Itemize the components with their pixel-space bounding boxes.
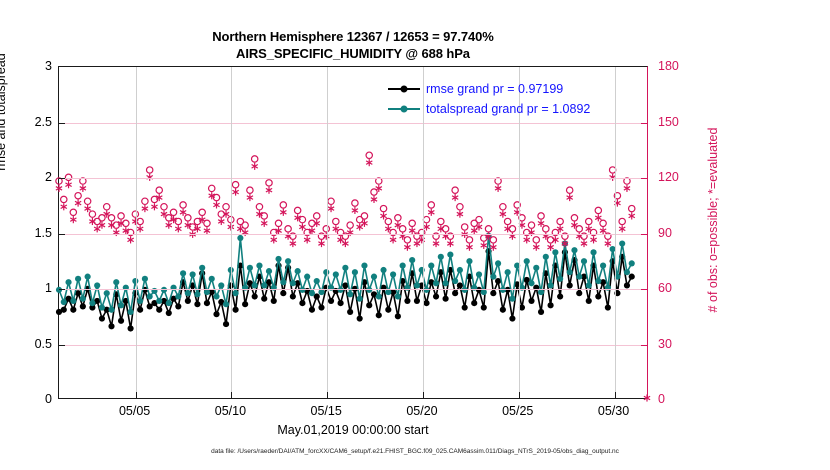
series-marker — [204, 300, 210, 306]
obs-possible-marker — [84, 198, 90, 204]
obs-possible-marker — [495, 178, 501, 184]
series-marker — [505, 269, 511, 275]
obs-evaluated-marker — [318, 240, 324, 247]
obs-possible-marker — [528, 222, 534, 228]
series-marker — [65, 279, 71, 285]
obs-evaluated-marker — [600, 227, 606, 234]
legend-label-totalspread: totalspread grand pr = 1.0892 — [426, 99, 590, 119]
legend-label-rmse: rmse grand pr = 0.97199 — [426, 79, 563, 99]
series-marker — [423, 300, 429, 306]
obs-possible-marker — [209, 185, 215, 191]
y-axis-left-ticks: 00.511.522.53 — [0, 66, 52, 399]
obs-evaluated-marker — [113, 229, 119, 236]
obs-evaluated-marker — [70, 216, 76, 223]
series-marker — [166, 310, 172, 316]
series-marker — [586, 282, 592, 288]
series-marker — [166, 300, 172, 306]
series-marker — [538, 309, 544, 315]
series-marker — [328, 285, 334, 291]
x-axis-tickmark — [615, 392, 616, 398]
series-marker — [185, 290, 191, 296]
obs-evaluated-marker — [366, 159, 372, 166]
series-marker — [605, 304, 611, 310]
series-marker — [194, 301, 200, 307]
series-marker — [471, 300, 477, 306]
series-marker — [395, 293, 401, 299]
obs-evaluated-marker — [304, 236, 310, 243]
obs-possible-marker — [256, 204, 262, 210]
obs-possible-marker — [380, 205, 386, 211]
series-marker — [352, 269, 358, 275]
obs-evaluated-marker — [509, 233, 515, 240]
series-marker — [213, 293, 219, 299]
series-marker — [118, 302, 124, 308]
obs-possible-marker — [266, 180, 272, 186]
x-axis-tickmark — [423, 392, 424, 398]
obs-possible-marker — [180, 202, 186, 208]
obs-evaluated-marker — [457, 211, 463, 218]
obs-evaluated-marker — [495, 185, 501, 192]
series-marker — [619, 240, 625, 246]
series-marker — [571, 247, 577, 253]
series-marker — [428, 263, 434, 269]
obs-evaluated-marker — [595, 214, 601, 221]
y-axis-left-tick-label: 1 — [4, 281, 52, 295]
series-marker — [175, 293, 181, 299]
series-marker — [309, 307, 315, 313]
series-marker — [209, 276, 215, 282]
series-marker — [419, 267, 425, 273]
obs-possible-marker — [447, 233, 453, 239]
obs-evaluated-marker — [590, 236, 596, 243]
series-marker — [61, 299, 67, 305]
y-axis-left-tick-label: 0.5 — [4, 337, 52, 351]
obs-possible-marker — [619, 218, 625, 224]
obs-possible-marker — [538, 213, 544, 219]
legend-swatch-totalspread — [388, 103, 420, 115]
series-marker — [266, 268, 272, 274]
series-marker — [242, 301, 248, 307]
series-marker — [142, 276, 148, 282]
x-axis-tick-label: 05/05 — [119, 404, 150, 418]
series-marker — [261, 296, 267, 302]
series-marker — [99, 315, 105, 321]
obs-evaluated-marker — [271, 236, 277, 243]
series-marker — [318, 289, 324, 295]
series-marker — [295, 268, 301, 274]
y-axis-right-tick-label: 150 — [658, 115, 679, 129]
y-axis-left-tickmark — [59, 123, 65, 124]
obs-evaluated-marker — [624, 185, 630, 192]
series-marker — [605, 285, 611, 291]
series-marker — [80, 296, 86, 302]
y-axis-right-tickmark — [641, 345, 647, 346]
y-axis-left-tickmark — [59, 289, 65, 290]
obs-evaluated-marker — [151, 203, 157, 210]
obs-possible-marker — [323, 226, 329, 232]
x-axis-label: May.01,2019 00:00:00 start — [58, 423, 648, 437]
series-marker — [366, 287, 372, 293]
series-marker — [232, 290, 238, 296]
series-marker — [99, 304, 105, 310]
series-marker — [452, 290, 458, 296]
y-axis-right-tick-label: 30 — [658, 337, 672, 351]
series-marker — [70, 298, 76, 304]
series-marker — [547, 282, 553, 288]
series-marker — [500, 307, 506, 313]
series-marker — [252, 293, 258, 299]
obs-possible-marker — [366, 152, 372, 158]
obs-evaluated-marker — [166, 222, 172, 229]
obs-possible-marker — [146, 167, 152, 173]
obs-possible-marker — [586, 218, 592, 224]
obs-evaluated-marker — [280, 209, 286, 216]
obs-evaluated-marker — [299, 223, 305, 230]
obs-possible-marker — [314, 213, 320, 219]
obs-possible-marker — [137, 218, 143, 224]
obs-possible-marker — [442, 226, 448, 232]
series-marker — [476, 271, 482, 277]
obs-evaluated-marker — [204, 227, 210, 234]
series-marker — [223, 301, 229, 307]
series-marker — [610, 246, 616, 252]
obs-evaluated-marker — [423, 223, 429, 230]
series-marker — [280, 290, 286, 296]
obs-possible-marker — [581, 233, 587, 239]
series-marker — [357, 296, 363, 302]
series-marker — [490, 274, 496, 280]
series-marker — [400, 263, 406, 269]
obs-evaluated-marker — [524, 236, 530, 243]
obs-evaluated-marker — [290, 240, 296, 247]
obs-possible-marker — [419, 229, 425, 235]
obs-possible-marker — [461, 224, 467, 230]
obs-evaluated-marker — [80, 185, 86, 192]
obs-possible-marker — [318, 233, 324, 239]
series-marker — [404, 298, 410, 304]
series-marker — [567, 269, 573, 275]
series-marker — [590, 249, 596, 255]
series-marker — [538, 289, 544, 295]
series-marker — [414, 282, 420, 288]
obs-evaluated-marker — [519, 222, 525, 229]
series-marker — [447, 251, 453, 257]
series-marker — [290, 280, 296, 286]
obs-evaluated-marker — [380, 212, 386, 219]
obs-evaluated-marker — [547, 244, 553, 251]
obs-possible-marker — [347, 222, 353, 228]
obs-evaluated-marker — [500, 211, 506, 218]
series-marker — [357, 315, 363, 321]
x-axis-tick-label: 05/10 — [215, 404, 246, 418]
series-marker — [519, 285, 525, 291]
series-marker — [404, 285, 410, 291]
series-marker — [314, 278, 320, 284]
y-axis-right-tickmark — [641, 123, 647, 124]
series-marker — [557, 293, 563, 299]
obs-possible-marker — [232, 182, 238, 188]
obs-possible-marker — [361, 213, 367, 219]
chart-title-line-1: Northern Hemisphere 12367 / 12653 = 97.7… — [58, 28, 648, 45]
obs-possible-marker — [199, 209, 205, 215]
series-marker — [533, 285, 539, 291]
series-marker — [547, 302, 553, 308]
obs-possible-marker — [132, 211, 138, 217]
series-marker — [175, 303, 181, 309]
legend-item-totalspread[interactable]: totalspread grand pr = 1.0892 — [388, 99, 590, 119]
series-marker — [567, 282, 573, 288]
y-axis-left-tick-label: 3 — [4, 59, 52, 73]
obs-evaluated-marker — [404, 244, 410, 251]
series-marker — [629, 260, 635, 266]
series-marker — [108, 323, 114, 329]
series-marker — [495, 260, 501, 266]
obs-evaluated-marker — [180, 209, 186, 216]
series-marker — [118, 318, 124, 324]
series-group — [56, 152, 635, 243]
series-marker — [156, 307, 162, 313]
series-marker — [614, 290, 620, 296]
obs-possible-marker — [433, 233, 439, 239]
series-marker — [533, 265, 539, 271]
series-marker — [595, 293, 601, 299]
series-marker — [309, 290, 315, 296]
series-marker — [543, 254, 549, 260]
legend-item-rmse[interactable]: rmse grand pr = 0.97199 — [388, 79, 590, 99]
obs-possible-marker — [251, 156, 257, 162]
obs-possible-marker — [80, 178, 86, 184]
series-marker — [366, 302, 372, 308]
series-marker — [395, 313, 401, 319]
obs-evaluated-marker — [514, 209, 520, 216]
series-marker — [137, 298, 143, 304]
series-marker — [462, 287, 468, 293]
x-axis-tick-label: 05/25 — [502, 404, 533, 418]
series-marker — [94, 282, 100, 288]
series-marker — [190, 271, 196, 277]
y-axis-right-tickmark — [641, 178, 647, 179]
obs-evaluated-marker — [567, 194, 573, 201]
series-marker — [213, 311, 219, 317]
y-axis-left-tick-label: 0 — [4, 392, 52, 406]
series-marker — [614, 274, 620, 280]
obs-evaluated-marker — [247, 194, 253, 201]
series-marker — [481, 289, 487, 295]
series-marker — [113, 279, 119, 285]
series-marker — [443, 280, 449, 286]
obs-evaluated-marker — [137, 225, 143, 232]
series-marker — [347, 291, 353, 297]
series-marker — [624, 269, 630, 275]
series-marker — [247, 265, 253, 271]
obs-possible-marker — [285, 226, 291, 232]
obs-possible-marker — [123, 220, 129, 226]
series-marker — [342, 265, 348, 271]
y-axis-left-tickmark — [59, 178, 65, 179]
obs-evaluated-marker — [328, 205, 334, 212]
x-axis-tick-label: 05/30 — [598, 404, 629, 418]
obs-possible-marker — [514, 202, 520, 208]
series-marker — [433, 293, 439, 299]
series-marker — [299, 287, 305, 293]
series-marker — [528, 280, 534, 286]
series-marker — [161, 287, 167, 293]
series-marker — [452, 278, 458, 284]
obs-possible-marker — [409, 220, 415, 226]
series-marker — [557, 276, 563, 282]
series-marker — [80, 303, 86, 309]
series-marker — [170, 285, 176, 291]
obs-possible-marker — [566, 187, 572, 193]
obs-evaluated-marker — [190, 231, 196, 238]
series-marker — [127, 325, 133, 331]
legend: rmse grand pr = 0.97199 totalspread gran… — [388, 79, 590, 119]
obs-possible-marker — [614, 193, 620, 199]
series-marker — [85, 274, 91, 280]
y-axis-left-tickmark — [59, 234, 65, 235]
obs-possible-marker — [428, 202, 434, 208]
obs-possible-marker — [218, 211, 224, 217]
x-axis-tick-label: 05/20 — [406, 404, 437, 418]
obs-possible-marker — [524, 229, 530, 235]
series-marker — [361, 263, 367, 269]
obs-possible-marker — [629, 205, 635, 211]
obs-evaluated-marker — [614, 199, 620, 206]
obs-evaluated-marker — [481, 242, 487, 249]
obs-evaluated-marker — [56, 185, 62, 192]
obs-possible-marker — [118, 213, 124, 219]
obs-evaluated-marker — [252, 163, 258, 170]
obs-possible-marker — [595, 207, 601, 213]
series-marker — [338, 287, 344, 293]
obs-possible-marker — [504, 218, 510, 224]
obs-possible-marker — [571, 215, 577, 221]
series-marker — [156, 298, 162, 304]
obs-possible-marker — [161, 204, 167, 210]
obs-evaluated-marker — [533, 244, 539, 251]
obs-possible-marker — [438, 218, 444, 224]
series-marker — [271, 285, 277, 291]
obs-possible-marker — [557, 218, 563, 224]
obs-possible-marker — [228, 216, 234, 222]
series-marker — [371, 274, 377, 280]
y-axis-right-ticks: 0306090120150180 — [648, 66, 708, 399]
series-marker — [390, 271, 396, 277]
obs-possible-marker — [452, 187, 458, 193]
obs-possible-marker — [562, 233, 568, 239]
series-marker — [462, 304, 468, 310]
series-marker — [338, 300, 344, 306]
series-marker — [481, 304, 487, 310]
y-axis-right-tick-label: 90 — [658, 226, 672, 240]
obs-evaluated-marker — [65, 181, 71, 188]
series-marker — [70, 307, 76, 313]
series-marker — [457, 282, 463, 288]
x-axis-tickmark — [136, 392, 137, 398]
series-marker — [256, 263, 262, 269]
series-marker — [132, 278, 138, 284]
series-marker — [500, 287, 506, 293]
obs-possible-marker — [247, 187, 253, 193]
series-marker — [624, 282, 630, 288]
obs-evaluated-marker — [142, 205, 148, 212]
series-marker — [466, 258, 472, 264]
series-group — [56, 159, 635, 251]
y-axis-left-tick-label: 2 — [4, 170, 52, 184]
series-marker — [409, 257, 415, 263]
series-marker — [385, 307, 391, 313]
series-marker — [180, 270, 186, 276]
series-marker — [581, 258, 587, 264]
series-marker — [457, 267, 463, 273]
series-marker — [509, 315, 515, 321]
obs-possible-marker — [395, 215, 401, 221]
series-marker — [204, 289, 210, 295]
obs-evaluated-marker — [433, 240, 439, 247]
series-marker — [275, 256, 281, 262]
obs-evaluated-marker — [409, 227, 415, 234]
series-marker — [333, 271, 339, 277]
series-marker — [414, 298, 420, 304]
series-marker — [514, 263, 520, 269]
chart-title-line-2: AIRS_SPECIFIC_HUMIDITY @ 688 hPa — [58, 45, 648, 62]
obs-possible-marker — [509, 226, 515, 232]
obs-possible-marker — [156, 187, 162, 193]
series-marker — [524, 258, 530, 264]
series-marker — [280, 279, 286, 285]
obs-evaluated-marker — [61, 203, 67, 210]
series-marker — [285, 258, 291, 264]
obs-evaluated-marker — [462, 231, 468, 238]
y-axis-right-tick-label: 120 — [658, 170, 679, 184]
obs-evaluated-marker — [75, 199, 81, 206]
series-marker — [242, 285, 248, 291]
series-marker — [376, 293, 382, 299]
series-marker — [490, 290, 496, 296]
series-marker — [290, 293, 296, 299]
series-marker — [271, 298, 277, 304]
obs-evaluated-marker — [147, 174, 153, 181]
series-marker — [194, 291, 200, 297]
obs-possible-marker — [223, 204, 229, 210]
series-marker — [223, 321, 229, 327]
obs-possible-marker — [280, 202, 286, 208]
series-marker — [328, 298, 334, 304]
obs-possible-marker — [75, 193, 81, 199]
obs-evaluated-marker — [610, 174, 616, 181]
obs-possible-marker — [328, 198, 334, 204]
obs-possible-marker — [104, 204, 110, 210]
series-marker — [576, 274, 582, 280]
series-marker — [318, 304, 324, 310]
obs-evaluated-marker — [228, 223, 234, 230]
series-marker — [147, 293, 153, 299]
obs-possible-marker — [457, 204, 463, 210]
obs-evaluated-marker — [452, 194, 458, 201]
legend-swatch-rmse — [388, 83, 420, 95]
obs-possible-marker — [290, 233, 296, 239]
y-axis-left-tick-label: 1.5 — [4, 226, 52, 240]
series-marker — [528, 298, 534, 304]
y-axis-right-tickmark — [641, 289, 647, 290]
obs-possible-marker — [70, 209, 76, 215]
obs-possible-marker — [65, 174, 71, 180]
series-marker — [519, 304, 525, 310]
series-marker — [586, 298, 592, 304]
y-axis-right-tick-label: 180 — [658, 59, 679, 73]
obs-evaluated-marker — [213, 201, 219, 208]
series-marker — [104, 290, 110, 296]
